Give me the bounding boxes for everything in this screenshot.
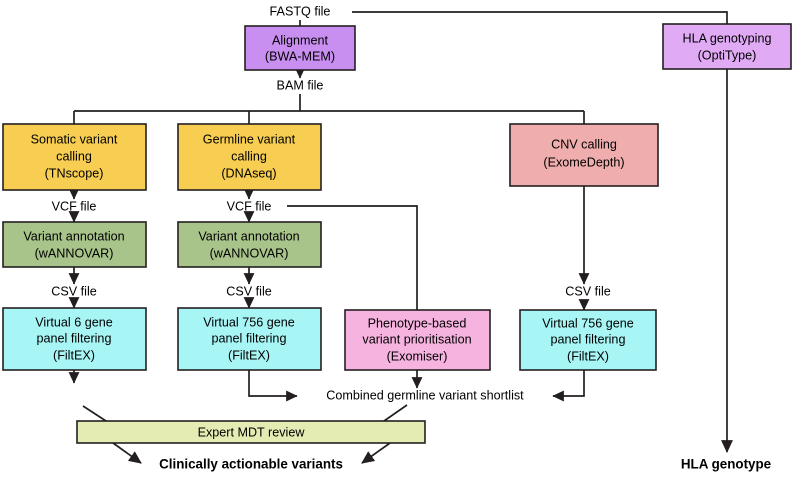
edge-shortlist-to-mdt [384, 405, 407, 421]
somatic-label-line2: calling [56, 149, 92, 163]
annotation-somatic-label-line1: Variant annotation [23, 229, 124, 243]
edge-mdt-to-actionable-right [362, 443, 390, 463]
node-virtual-6-gene-panel[interactable]: Virtual 6 gene panel filtering (FiltEX) [3, 308, 146, 370]
panel756-cnv-label-line2: panel filtering [551, 332, 626, 346]
hla-genotyping-label-line1: HLA genotyping [683, 31, 772, 45]
panel756-cnv-label-line3: (FiltEX) [567, 349, 609, 363]
label-hla-genotype: HLA genotype [681, 457, 771, 472]
hla-genotyping-label-line2: (OptiType) [698, 48, 757, 62]
edge-panel756-cnv-to-shortlist [553, 370, 584, 396]
label-csv-file-germline: CSV file [226, 284, 272, 298]
somatic-label-line1: Somatic variant [31, 132, 118, 146]
alignment-label-line1: Alignment [272, 33, 329, 47]
germline-label-line2: calling [231, 149, 267, 163]
node-somatic-variant-calling[interactable]: Somatic variant calling (TNscope) [3, 124, 146, 190]
exomiser-label-line3: (Exomiser) [387, 349, 448, 363]
terminal-label-layer: Clinically actionable variants HLA genot… [159, 457, 771, 472]
cnv-label-line2: (ExomeDepth) [543, 155, 624, 169]
somatic-label-line3: (TNscope) [45, 166, 104, 180]
panel756-germline-label-line1: Virtual 756 gene [203, 315, 295, 329]
annotation-germline-label-line1: Variant annotation [198, 229, 299, 243]
label-csv-file-cnv: CSV file [565, 284, 611, 298]
node-variant-annotation-germline[interactable]: Variant annotation (wANNOVAR) [178, 222, 321, 267]
annotation-somatic-label-line2: (wANNOVAR) [35, 246, 114, 260]
node-variant-annotation-somatic[interactable]: Variant annotation (wANNOVAR) [3, 222, 146, 267]
node-hla-genotyping[interactable]: HLA genotyping (OptiType) [663, 24, 791, 69]
cnv-label-line1: CNV calling [551, 137, 617, 151]
label-clinically-actionable-variants: Clinically actionable variants [159, 457, 343, 472]
node-alignment[interactable]: Alignment (BWA-MEM) [245, 26, 355, 70]
edge-mdt-to-actionable-left [113, 443, 141, 463]
label-bam-file: BAM file [277, 78, 324, 92]
label-vcf-file-somatic: VCF file [52, 199, 97, 213]
annotation-germline-label-line2: (wANNOVAR) [210, 246, 289, 260]
panel756-germline-label-line3: (FiltEX) [228, 348, 270, 362]
panel6-label-line2: panel filtering [37, 331, 112, 345]
expert-mdt-review-label: Expert MDT review [198, 425, 306, 439]
alignment-label-line2: (BWA-MEM) [265, 49, 335, 63]
node-layer: Alignment (BWA-MEM) HLA genotyping (Opti… [3, 24, 791, 443]
node-germline-variant-calling[interactable]: Germline variant calling (DNAseq) [178, 124, 321, 190]
node-phenotype-based-prioritisation[interactable]: Phenotype-based variant prioritisation (… [345, 310, 490, 370]
exomiser-label-line1: Phenotype-based [368, 316, 467, 330]
panel6-label-line3: (FiltEX) [53, 348, 95, 362]
node-expert-mdt-review[interactable]: Expert MDT review [77, 421, 425, 443]
panel756-cnv-label-line1: Virtual 756 gene [542, 316, 634, 330]
panel6-label-line1: Virtual 6 gene [35, 315, 113, 329]
panel756-germline-label-line2: panel filtering [212, 331, 287, 345]
flowchart-canvas: Alignment (BWA-MEM) HLA genotyping (Opti… [0, 0, 800, 477]
exomiser-label-line2: variant prioritisation [362, 332, 471, 346]
node-cnv-calling[interactable]: CNV calling (ExomeDepth) [510, 124, 658, 186]
edge-panel6-to-mdt [83, 406, 106, 421]
edge-panel756-germline-to-shortlist [249, 370, 297, 396]
label-combined-germline-shortlist: Combined germline variant shortlist [326, 388, 524, 402]
label-fastq-file: FASTQ file [270, 4, 331, 18]
germline-label-line3: (DNAseq) [221, 166, 276, 180]
workflow-diagram: Alignment (BWA-MEM) HLA genotyping (Opti… [0, 0, 800, 477]
label-vcf-file-germline: VCF file [227, 199, 272, 213]
germline-label-line1: Germline variant [203, 132, 296, 146]
node-virtual-756-gene-panel-germline[interactable]: Virtual 756 gene panel filtering (FiltEX… [178, 308, 321, 370]
label-csv-file-somatic: CSV file [51, 284, 97, 298]
edge-fastq-to-hla [352, 12, 727, 24]
node-virtual-756-gene-panel-cnv[interactable]: Virtual 756 gene panel filtering (FiltEX… [520, 310, 656, 370]
